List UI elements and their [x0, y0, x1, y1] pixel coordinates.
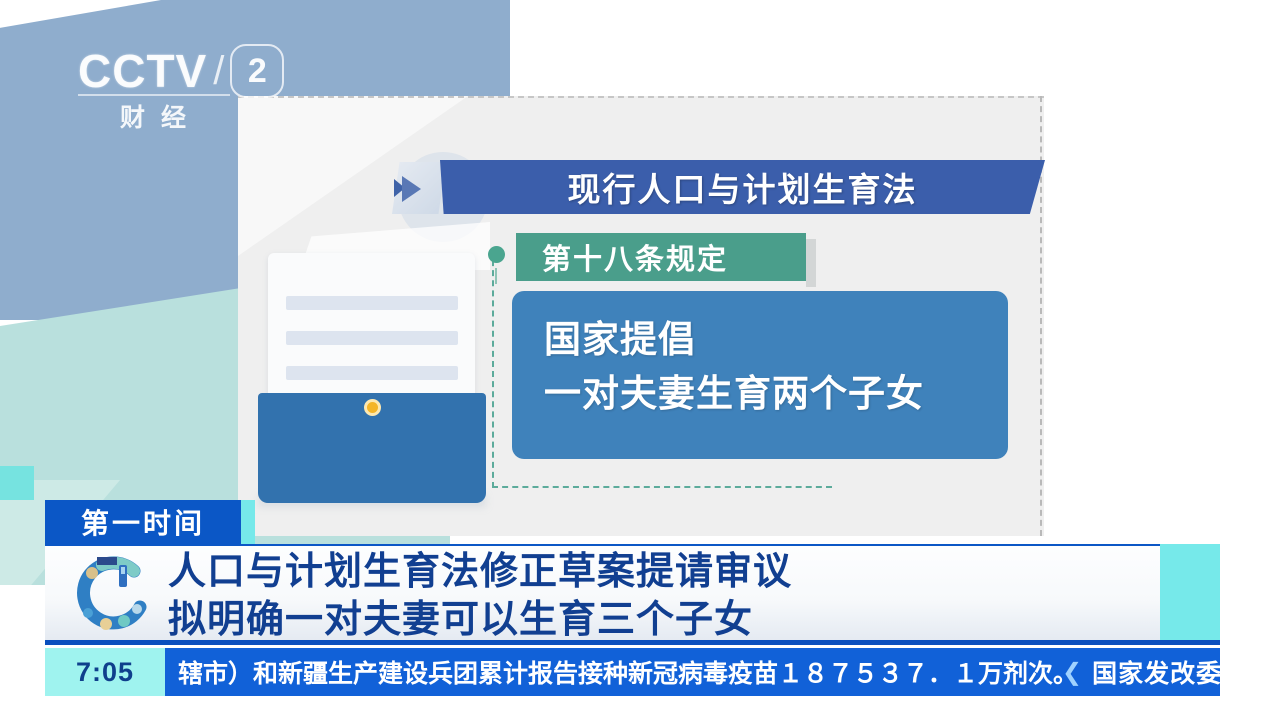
crescent-arc-icon: ❮: [1062, 658, 1082, 687]
cctv-logo-row: CCTV / 2: [78, 44, 293, 98]
background-cyan-chip: [0, 466, 34, 500]
sub-banner-shadow: [806, 239, 816, 287]
ticker-source: ❮ 国家发改委: [1062, 648, 1222, 696]
document-text-line: [286, 331, 458, 345]
infographic-main-banner: 现行人口与计划生育法: [440, 160, 1045, 214]
teal-dashed-left-border: [492, 250, 494, 488]
circular-arc-logo-icon: [62, 551, 158, 639]
ticker-source-label: 国家发改委: [1092, 654, 1222, 690]
infographic-sub-banner: 第十八条规定: [516, 233, 806, 281]
bullet-stem-line: [495, 268, 497, 284]
cctv-wordmark: CCTV: [78, 44, 207, 98]
banner-arrow-icon: [402, 176, 421, 202]
cctv-channel-logo: CCTV / 2 财经: [78, 44, 293, 144]
headline-cyan-accent: [1160, 544, 1220, 642]
program-tab-cyan-accent: [241, 500, 255, 544]
content-line-1: 国家提倡: [544, 313, 1008, 367]
ticker-scrolling-text: 辖市）和新疆生产建设兵团累计报告接种新冠病毒疫苗１８７５３７．１万剂次。: [178, 648, 1018, 696]
cctv-channel-number: 2: [230, 44, 284, 98]
cctv-slash: /: [213, 49, 224, 94]
content-line-2: 一对夫妻生育两个子女: [544, 367, 1008, 421]
program-name-tab: 第一时间: [45, 500, 241, 544]
tv-broadcast-frame: CCTV / 2 财经 高清 现行人口与计划生育法 第十八条规定 国家提倡 一对…: [0, 0, 1280, 720]
main-banner-title: 现行人口与计划生育法: [568, 163, 918, 211]
document-text-line: [286, 296, 458, 310]
folder-clasp-dot-icon: [364, 399, 381, 416]
headline-line-1: 人口与计划生育法修正草案提请审议: [168, 548, 1028, 596]
ticker-clock-label: 7:05: [76, 657, 134, 688]
document-text-line: [286, 366, 458, 380]
headline-line-2: 拟明确一对夫妻可以生育三个子女: [168, 596, 1028, 644]
cctv-sub-label: 财经: [78, 98, 228, 134]
news-headline: 人口与计划生育法修正草案提请审议 拟明确一对夫妻可以生育三个子女: [168, 548, 1028, 645]
infographic-content-box: 国家提倡 一对夫妻生育两个子女: [512, 291, 1008, 459]
ticker-clock: 7:05: [45, 648, 165, 696]
panel-dashed-top-border: [238, 96, 1044, 98]
program-name-label: 第一时间: [81, 502, 205, 542]
bullet-dot-icon: [488, 246, 505, 263]
sub-banner-title: 第十八条规定: [542, 236, 728, 278]
headline-bottom-rule: [45, 640, 1220, 645]
teal-dashed-bottom-border: [492, 486, 832, 488]
band-right-tail: [1220, 544, 1280, 646]
ticker-right-tail: [1220, 648, 1280, 696]
hd-watermark: 高清: [1110, 54, 1186, 98]
